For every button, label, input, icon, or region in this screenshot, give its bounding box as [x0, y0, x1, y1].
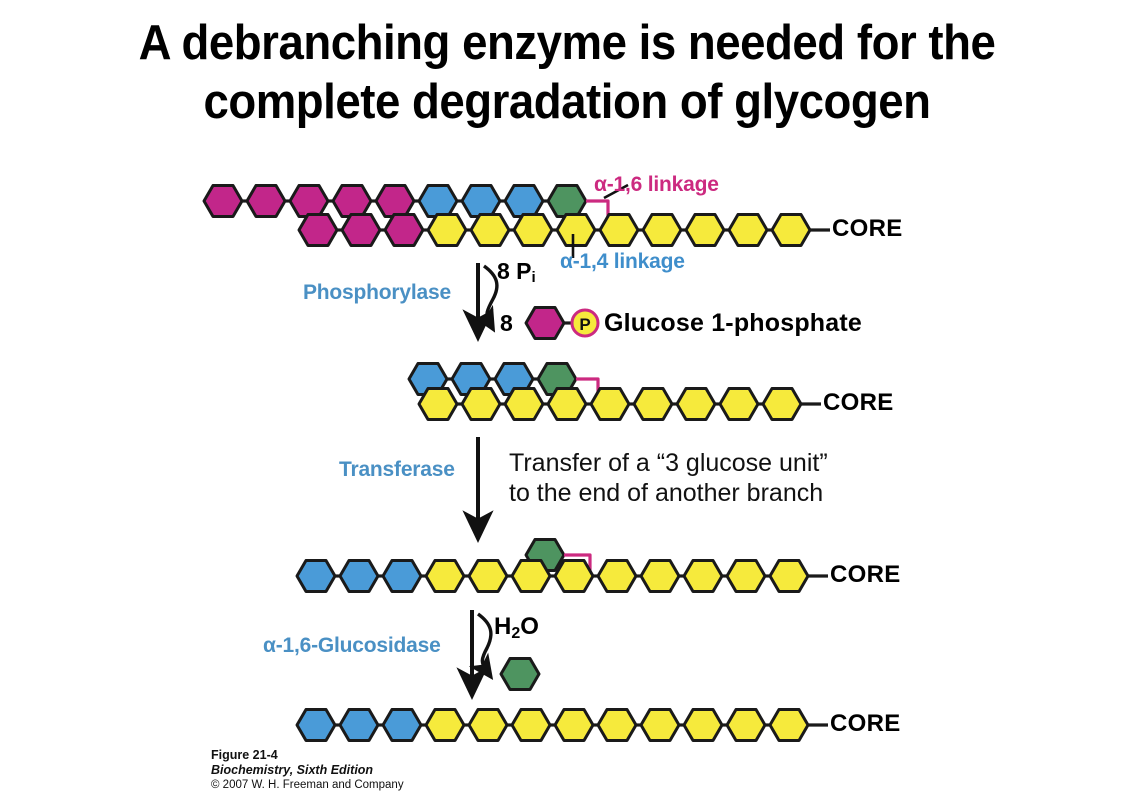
glucose-residue — [770, 710, 808, 741]
glucose-residue — [469, 710, 507, 741]
glucose-residue — [555, 710, 593, 741]
glucose-residue — [643, 215, 681, 246]
glucose-residue — [684, 710, 722, 741]
glucose-residue-branchpoint — [548, 186, 586, 217]
chain-1-branch — [204, 186, 586, 217]
glucose-residue — [204, 186, 242, 217]
glucose-1-phosphate-label: Glucose 1-phosphate — [604, 309, 862, 338]
water-o: O — [520, 613, 539, 640]
chain-4-main — [297, 710, 828, 741]
glucose-residue — [383, 710, 421, 741]
glucose-residue — [763, 389, 801, 420]
chain-1-main — [299, 215, 830, 246]
enzyme-label-transferase: Transferase — [339, 458, 455, 482]
phosphate-glyph-letter: P — [579, 315, 590, 334]
glucose-residue — [462, 186, 500, 217]
figure-caption: Figure 21-4 Biochemistry, Sixth Edition … — [211, 748, 404, 793]
glucose-residue — [333, 186, 371, 217]
glycogen-degradation-diagram: P — [0, 0, 1134, 800]
glucose-residue — [598, 710, 636, 741]
transferase-note-line-2: to the end of another branch — [509, 478, 823, 508]
glucose-residue — [385, 215, 423, 246]
glucose-residue — [512, 561, 550, 592]
glucose-residue — [505, 389, 543, 420]
glucose-residue — [526, 308, 564, 339]
glucose-residue-branchpoint — [598, 561, 636, 592]
glucose-residue — [641, 710, 679, 741]
glucose-residue — [340, 561, 378, 592]
glucose-residue — [419, 389, 457, 420]
alpha-1-6-linkage-label: α-1,6 linkage — [594, 173, 719, 197]
chain-3-main — [297, 561, 828, 592]
phosphorylase-arrow — [478, 263, 497, 326]
enzyme-label-phosphorylase: Phosphorylase — [303, 281, 451, 305]
enzyme-label-glucosidase: α-1,6-Glucosidase — [263, 634, 441, 658]
glucose-residue — [426, 561, 464, 592]
glucose-residue — [548, 389, 586, 420]
glucose-residue — [297, 710, 335, 741]
glucose-residue — [512, 710, 550, 741]
released-glucose-residue — [501, 659, 539, 690]
glucose-residue — [462, 389, 500, 420]
glucose-residue — [772, 215, 810, 246]
glucose-residue — [290, 186, 328, 217]
glucose-residue — [677, 389, 715, 420]
glucose-residue — [557, 215, 595, 246]
glucose-residue — [514, 215, 552, 246]
glucose-residue — [634, 389, 672, 420]
glucose-residue — [505, 186, 543, 217]
glucose-residue — [686, 215, 724, 246]
core-label-chain-2: CORE — [823, 389, 894, 417]
alpha-1-4-linkage-label: α-1,4 linkage — [560, 250, 685, 274]
core-label-chain-3: CORE — [830, 561, 901, 589]
chain-2-main — [419, 389, 821, 420]
glucose-residue — [684, 561, 722, 592]
glucose-residue — [340, 710, 378, 741]
phosphorylase-substrate-label: 8 Pi — [497, 258, 536, 286]
glucose-residue — [428, 215, 466, 246]
glucose-residue — [720, 389, 758, 420]
glucose-residue — [247, 186, 285, 217]
water-label: H2O — [494, 613, 539, 643]
glucose-residue — [297, 561, 335, 592]
slide-canvas: A debranching enzyme is needed for the c… — [0, 0, 1134, 800]
glucose-residue — [299, 215, 337, 246]
glucose-residue — [729, 215, 767, 246]
glucose-residue — [641, 561, 679, 592]
glucose-residue — [727, 710, 765, 741]
phosphate-inorganic-subscript: i — [532, 269, 536, 286]
glucose-residue — [419, 186, 457, 217]
transferase-note-line-1: Transfer of a “3 glucose unit” — [509, 448, 828, 478]
caption-copyright: © 2007 W. H. Freeman and Company — [211, 778, 404, 793]
glucose-residue — [469, 561, 507, 592]
glucose-residue — [342, 215, 380, 246]
caption-book-title: Biochemistry, Sixth Edition — [211, 763, 404, 778]
glucosidase-arrow — [472, 610, 491, 684]
water-h: H — [494, 613, 511, 640]
caption-figure-number: Figure 21-4 — [211, 748, 404, 763]
phosphorylase-product-count: 8 — [500, 310, 513, 337]
glucose-residue — [770, 561, 808, 592]
glucose-residue-branchpoint — [591, 389, 629, 420]
glucose-residue — [471, 215, 509, 246]
glucose-residue — [727, 561, 765, 592]
core-label-chain-4: CORE — [830, 710, 901, 738]
glucose-residue — [376, 186, 414, 217]
phosphate-inorganic-text: 8 P — [497, 258, 532, 284]
glucose-residue-branchpoint — [600, 215, 638, 246]
glucose-residue — [383, 561, 421, 592]
core-label-chain-1: CORE — [832, 215, 903, 243]
glucose-residue — [555, 561, 593, 592]
glucose-1-phosphate-molecule: P — [526, 308, 598, 339]
water-subscript: 2 — [511, 625, 520, 642]
glucose-residue — [426, 710, 464, 741]
